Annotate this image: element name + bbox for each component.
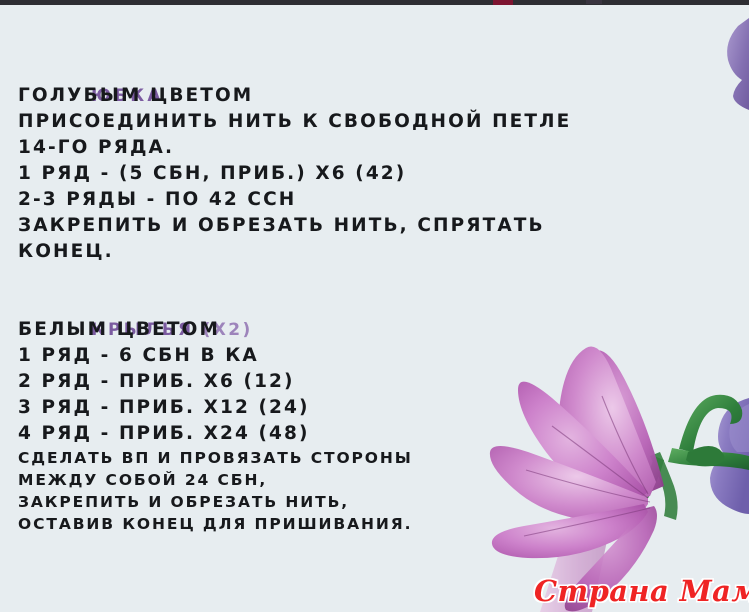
instruction-line: ЗАКРЕПИТЬ И ОБРЕЗАТЬ НИТЬ, СПРЯТАТЬ: [18, 213, 571, 239]
instruction-line: ГОЛУБЫМ ЦВЕТОМ: [18, 83, 571, 109]
top-strip: [0, 0, 749, 5]
instruction-line: ОСТАВИВ КОНЕЦ ДЛЯ ПРИШИВАНИЯ.: [18, 513, 413, 535]
instruction-line: 1 РЯД - 6 СБН В КА: [18, 343, 413, 369]
watermark: Страна Мам .ру: [534, 574, 749, 608]
instruction-text: ЮБКА ГОЛУБЫМ ЦВЕТОМ ПРИСОЕДИНИТЬ НИТЬ К …: [0, 0, 749, 612]
pattern-image: ЮБКА ГОЛУБЫМ ЦВЕТОМ ПРИСОЕДИНИТЬ НИТЬ К …: [0, 0, 749, 612]
instruction-line: СДЕЛАТЬ ВП И ПРОВЯЗАТЬ СТОРОНЫ: [18, 447, 413, 469]
section-wings-heading: КРЫЛЬЯ (Х2): [18, 290, 413, 317]
section-skirt: ЮБКА ГОЛУБЫМ ЦВЕТОМ ПРИСОЕДИНИТЬ НИТЬ К …: [18, 56, 571, 265]
instruction-line: 2-3 РЯДЫ - ПО 42 ССН: [18, 187, 571, 213]
instruction-line: МЕЖДУ СОБОЙ 24 СБН,: [18, 469, 413, 491]
instruction-line: БЕЛЫМ ЦВЕТОМ: [18, 317, 413, 343]
instruction-line: 14-ГО РЯДА.: [18, 135, 571, 161]
instruction-line: 4 РЯД - ПРИБ. Х24 (48): [18, 421, 413, 447]
top-strip-dark-fragment: [586, 0, 602, 4]
section-wings: КРЫЛЬЯ (Х2) БЕЛЫМ ЦВЕТОМ 1 РЯД - 6 СБН В…: [18, 290, 413, 535]
section-skirt-heading: ЮБКА: [18, 56, 571, 83]
instruction-line: 2 РЯД - ПРИБ. Х6 (12): [18, 369, 413, 395]
instruction-line: КОНЕЦ.: [18, 239, 571, 265]
instruction-line: ЗАКРЕПИТЬ И ОБРЕЗАТЬ НИТЬ,: [18, 491, 413, 513]
top-strip-red-fragment: [493, 0, 513, 5]
instruction-line: 1 РЯД - (5 СБН, ПРИБ.) Х6 (42): [18, 161, 571, 187]
instruction-line: 3 РЯД - ПРИБ. Х12 (24): [18, 395, 413, 421]
instruction-line: ПРИСОЕДИНИТЬ НИТЬ К СВОБОДНОЙ ПЕТЛЕ: [18, 109, 571, 135]
